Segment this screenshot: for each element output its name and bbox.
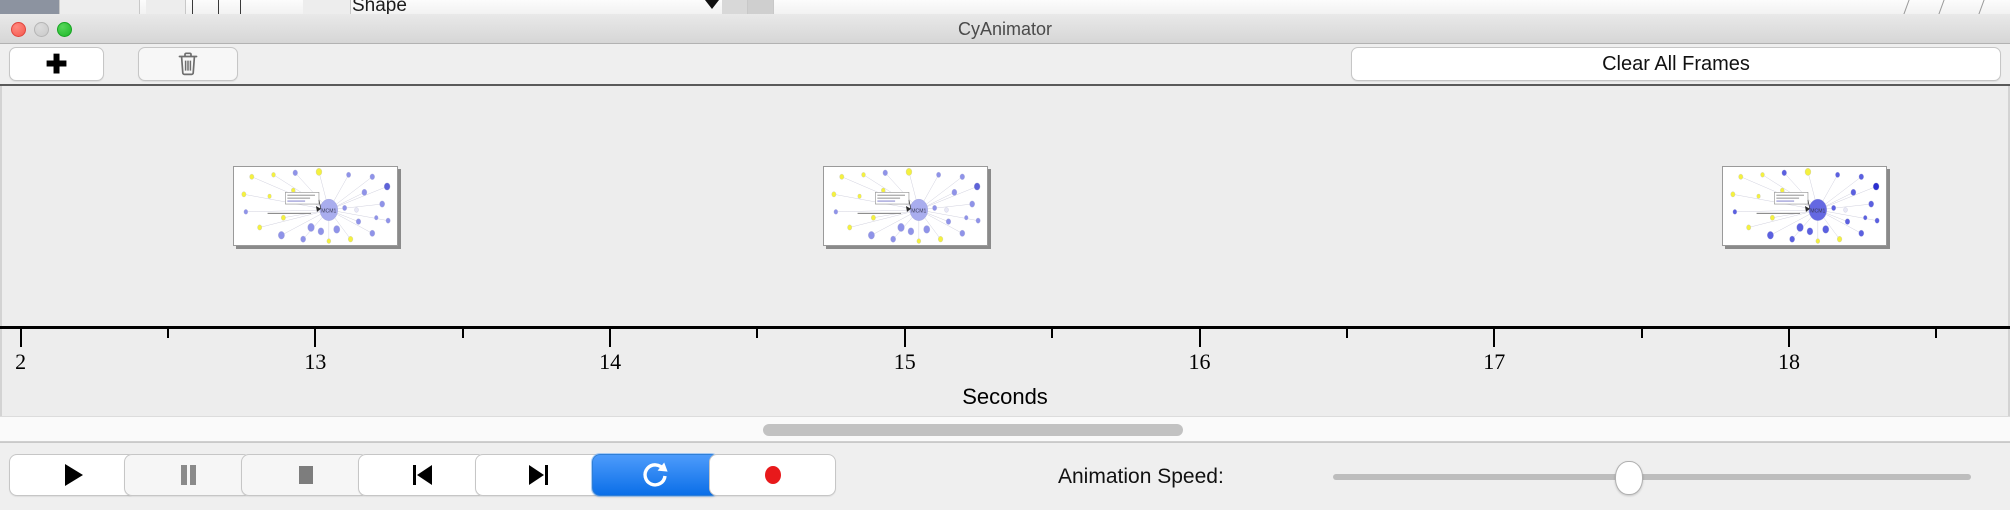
animation-speed-slider-thumb[interactable] xyxy=(1615,461,1643,495)
background-tab xyxy=(748,0,774,14)
record-button[interactable] xyxy=(709,454,836,496)
axis-title: Seconds xyxy=(0,384,2010,410)
background-tab xyxy=(722,0,748,14)
pause-button xyxy=(124,454,251,496)
delete-frame-button[interactable] xyxy=(138,47,238,81)
axis-tick-minor xyxy=(167,329,169,338)
playback-bar: Animation Speed: xyxy=(0,442,2010,510)
axis-tick-label: 2 xyxy=(15,349,26,375)
play-button[interactable] xyxy=(9,454,136,496)
skip-to-end-icon xyxy=(525,461,553,489)
background-slash xyxy=(1975,0,1989,14)
axis-tick-label: 18 xyxy=(1778,349,1800,375)
skip-to-start-button[interactable] xyxy=(358,454,485,496)
plus-icon: ✚ xyxy=(46,51,68,77)
scrollbar-thumb[interactable] xyxy=(763,424,1183,436)
axis-tick-major xyxy=(1788,329,1790,347)
stop-button xyxy=(241,454,368,496)
axis-tick-minor xyxy=(1641,329,1643,338)
frame-thumbnail-1[interactable]: MCM1 xyxy=(233,166,398,246)
window-title: CyAnimator xyxy=(0,19,2010,40)
trash-icon xyxy=(177,51,199,77)
axis-tick-major xyxy=(1493,329,1495,347)
cyanimator-window: Shape CyAnimator ✚ Clear All Frames xyxy=(0,0,2010,510)
animation-speed-slider[interactable] xyxy=(1333,474,1971,480)
stop-icon xyxy=(292,461,318,489)
add-frame-button[interactable]: ✚ xyxy=(9,47,104,81)
background-divider xyxy=(218,0,219,14)
skip-to-start-icon xyxy=(408,461,436,489)
axis-tick-minor xyxy=(1935,329,1937,338)
background-divider xyxy=(192,0,193,14)
skip-to-end-button[interactable] xyxy=(475,454,602,496)
title-bar[interactable]: CyAnimator xyxy=(0,14,2010,44)
axis-tick-minor xyxy=(756,329,758,338)
axis-tick-label: 13 xyxy=(304,349,326,375)
axis-tick-major xyxy=(314,329,316,347)
axis-tick-major xyxy=(904,329,906,347)
axis-tick-label: 15 xyxy=(894,349,916,375)
clear-all-frames-button[interactable]: Clear All Frames xyxy=(1351,47,2001,81)
axis-tick-minor xyxy=(1346,329,1348,338)
background-divider xyxy=(240,0,241,14)
background-marker-icon xyxy=(705,0,719,9)
axis-tick-label: 16 xyxy=(1189,349,1211,375)
play-icon xyxy=(60,461,86,489)
axis-line xyxy=(0,326,2010,329)
background-window-strip: Shape xyxy=(0,0,2010,15)
frame-thumbnail-2[interactable]: MCM1 xyxy=(823,166,988,246)
svg-text:MCM1: MCM1 xyxy=(911,208,926,214)
axis-tick-minor xyxy=(1051,329,1053,338)
svg-text:MCM1: MCM1 xyxy=(322,208,337,214)
background-slash xyxy=(1900,0,1914,14)
background-slash xyxy=(1935,0,1949,14)
loop-button[interactable] xyxy=(592,454,719,496)
axis-tick-major xyxy=(1199,329,1201,347)
axis-tick-major xyxy=(20,329,22,347)
svg-text:MCM1: MCM1 xyxy=(1810,208,1825,214)
loop-icon xyxy=(642,460,670,490)
background-label: Shape xyxy=(352,0,407,15)
axis-tick-major xyxy=(609,329,611,347)
axis-tick-minor xyxy=(462,329,464,338)
horizontal-scrollbar[interactable] xyxy=(0,416,2010,442)
record-icon xyxy=(759,461,787,489)
axis-tick-label: 17 xyxy=(1483,349,1505,375)
background-tab-active xyxy=(0,0,60,14)
background-tab xyxy=(60,0,140,14)
frame-thumbnail-3[interactable]: MCM1 xyxy=(1722,166,1887,246)
animation-speed-label: Animation Speed: xyxy=(1058,465,1224,489)
toolbar: ✚ Clear All Frames xyxy=(0,44,2010,86)
pause-icon xyxy=(175,461,201,489)
axis-tick-label: 14 xyxy=(599,349,621,375)
timeline-panel[interactable]: MCM1MCM1MCM1 2131415161718 Seconds xyxy=(0,86,2010,416)
background-tab xyxy=(303,0,351,14)
timeline-axis: 2131415161718 Seconds xyxy=(0,326,2010,416)
background-tab xyxy=(146,0,186,14)
